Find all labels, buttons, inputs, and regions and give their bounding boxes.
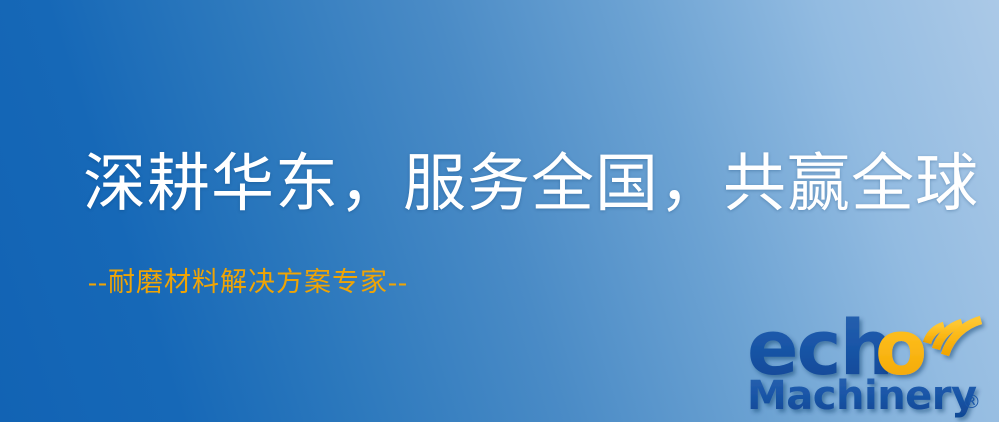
banner-subtitle: --耐磨材料解决方案专家-- [88, 268, 408, 298]
hero-banner: 深耕华东，服务全国，共赢全球 --耐磨材料解决方案专家-- [0, 0, 999, 422]
registered-trademark-icon: ® [962, 391, 981, 413]
sound-wave-icon [927, 320, 981, 355]
logo-word-machinery: Machinery [747, 373, 977, 419]
echo-machinery-logo: ech o Machinery ® [744, 296, 999, 422]
banner-headline: 深耕华东，服务全国，共赢全球 [83, 151, 979, 217]
